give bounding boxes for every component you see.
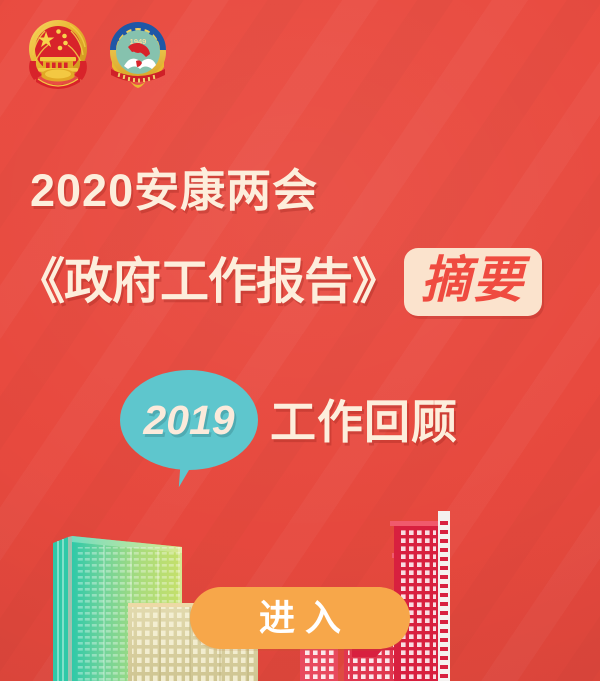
- title-line-3-row: 2019 工作回顾: [120, 370, 458, 474]
- enter-button-label: 进入: [249, 600, 351, 636]
- cppcc-emblem-icon: 1949: [102, 17, 174, 92]
- splash-page: 1949 2020安: [0, 0, 600, 681]
- report-title: 《政府工作报告》: [16, 258, 400, 307]
- emblem-row: 1949: [24, 17, 174, 92]
- review-label: 工作回顾: [270, 399, 458, 445]
- city-skyline-upper-layer: [0, 481, 600, 681]
- title-line-2-row: 《政府工作报告》 摘要: [16, 248, 542, 316]
- abstract-badge: 摘要: [404, 248, 542, 316]
- national-emblem-of-china-icon: [24, 17, 92, 92]
- year-speech-bubble: 2019: [120, 370, 258, 474]
- abstract-badge-label: 摘要: [421, 255, 525, 305]
- title-line-1: 2020安康两会: [30, 168, 318, 213]
- year-label: 2019: [120, 370, 258, 470]
- enter-button[interactable]: 进入: [190, 587, 410, 649]
